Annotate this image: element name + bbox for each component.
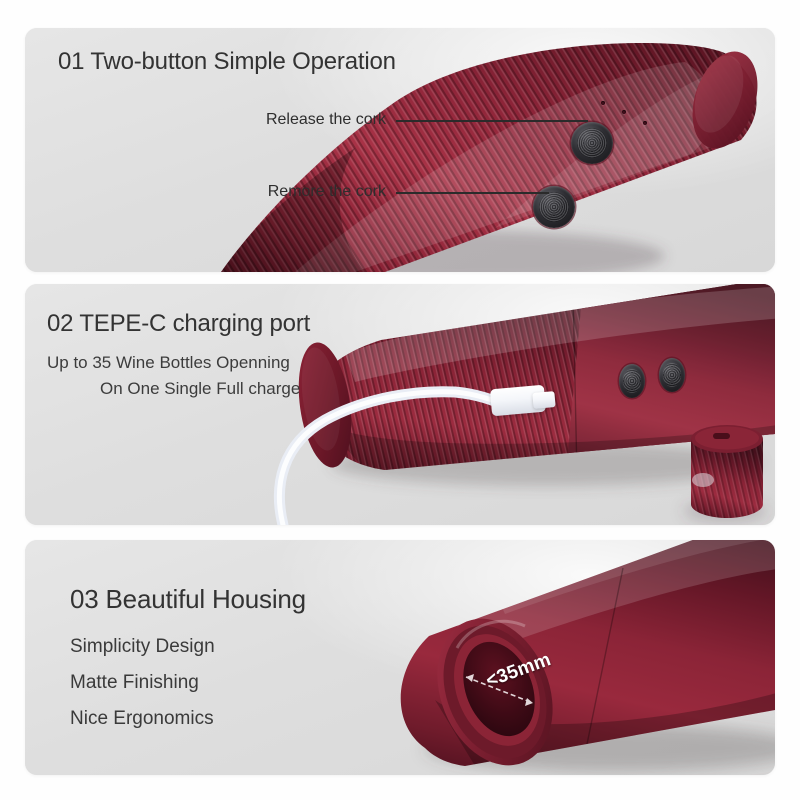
panel-02-subline-1: Up to 35 Wine Bottles Openning (47, 353, 290, 373)
callout-label-release-cork: Release the cork (221, 111, 386, 129)
feature-panel-03: <35mm 03 Beautiful Housing Simplicity De… (25, 540, 775, 775)
panel-03-feature-3: Nice Ergonomics (70, 708, 214, 730)
panel-02-subline-2: On One Single Full charge (100, 379, 300, 399)
opener-button-upper[interactable] (619, 364, 645, 398)
callout-leader-line-remove-cork (396, 192, 549, 194)
usb-c-charging-port (713, 433, 730, 439)
product-feature-page: 01 Two-button Simple Operation Release t… (0, 0, 800, 800)
panel-01-heading: 01 Two-button Simple Operation (58, 48, 396, 76)
feature-panel-02: 02 TEPE-C charging port Up to 35 Wine Bo… (25, 284, 775, 525)
callout-leader-line-release-cork (396, 120, 588, 122)
callout-label-remove-cork: Remore the cork (221, 183, 386, 201)
panel-03-feature-2: Matte Finishing (70, 672, 199, 694)
release-cork-button[interactable] (571, 122, 613, 164)
led-indicator-dot (601, 101, 605, 105)
led-indicator-dot (622, 110, 626, 114)
feature-panel-01: 01 Two-button Simple Operation Release t… (25, 28, 775, 272)
product-image-opener-upright (683, 425, 767, 523)
usb-c-connector-tip (532, 391, 555, 409)
opener-button-lower[interactable] (659, 358, 685, 392)
panel-03-heading: 03 Beautiful Housing (70, 584, 306, 615)
led-indicator-dot (643, 121, 647, 125)
panel-03-feature-1: Simplicity Design (70, 636, 215, 658)
panel-02-heading: 02 TEPE-C charging port (47, 310, 310, 338)
